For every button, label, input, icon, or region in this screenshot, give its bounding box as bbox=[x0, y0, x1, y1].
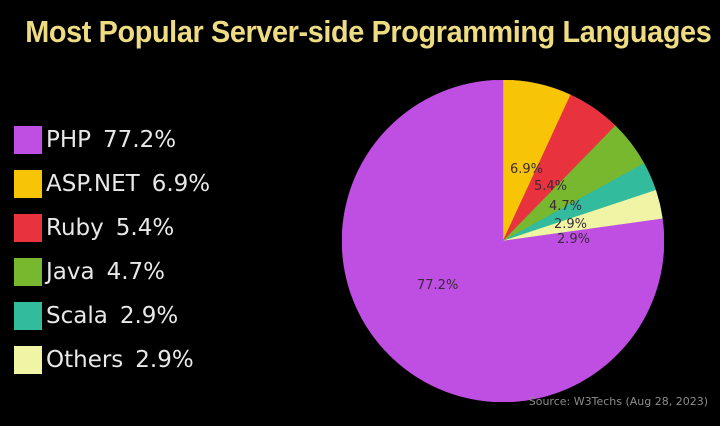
pie-slice-group bbox=[342, 80, 664, 402]
chart-title: Most Popular Server-side Programming Lan… bbox=[25, 10, 695, 54]
pie-chart-figure: Most Popular Server-side Programming Lan… bbox=[0, 0, 720, 426]
legend-item-aspnet[interactable]: ASP.NET 6.9% bbox=[14, 162, 304, 206]
legend-swatch-php bbox=[14, 126, 42, 154]
legend-value-java: 4.7% bbox=[107, 259, 165, 285]
source-attribution: Source: W3Techs (Aug 28, 2023) bbox=[529, 395, 708, 408]
legend-item-php[interactable]: PHP 77.2% bbox=[14, 118, 304, 162]
legend-label-java: Java bbox=[46, 259, 95, 285]
legend-item-scala[interactable]: Scala 2.9% bbox=[14, 294, 304, 338]
legend-label-others: Others bbox=[46, 347, 123, 373]
legend-swatch-ruby bbox=[14, 214, 42, 242]
legend-label-aspnet: ASP.NET bbox=[46, 171, 140, 197]
pie-slice-value-label: 5.4% bbox=[534, 179, 567, 194]
pie-slice-value-label: 2.9% bbox=[557, 232, 590, 247]
legend-label-php: PHP bbox=[46, 127, 91, 153]
legend-item-others[interactable]: Others 2.9% bbox=[14, 338, 304, 382]
legend-label-scala: Scala bbox=[46, 303, 108, 329]
pie-slice-value-label: 77.2% bbox=[417, 278, 458, 293]
legend-item-java[interactable]: Java 4.7% bbox=[14, 250, 304, 294]
legend-swatch-scala bbox=[14, 302, 42, 330]
pie-plot-area: 6.9%5.4%4.7%2.9%2.9%77.2% bbox=[342, 80, 664, 402]
pie-slice-value-label: 6.9% bbox=[510, 162, 543, 177]
legend-item-ruby[interactable]: Ruby 5.4% bbox=[14, 206, 304, 250]
legend-value-php: 77.2% bbox=[103, 127, 176, 153]
legend-swatch-aspnet bbox=[14, 170, 42, 198]
legend-value-ruby: 5.4% bbox=[116, 215, 174, 241]
pie-svg: 6.9%5.4%4.7%2.9%2.9%77.2% bbox=[342, 80, 664, 402]
pie-slice-value-label: 2.9% bbox=[554, 217, 587, 232]
chart-legend: PHP 77.2% ASP.NET 6.9% Ruby 5.4% Java 4.… bbox=[14, 118, 304, 382]
legend-swatch-java bbox=[14, 258, 42, 286]
legend-value-scala: 2.9% bbox=[120, 303, 178, 329]
legend-label-ruby: Ruby bbox=[46, 215, 104, 241]
legend-value-aspnet: 6.9% bbox=[152, 171, 210, 197]
legend-swatch-others bbox=[14, 346, 42, 374]
pie-slice-value-label: 4.7% bbox=[549, 199, 582, 214]
legend-value-others: 2.9% bbox=[135, 347, 193, 373]
